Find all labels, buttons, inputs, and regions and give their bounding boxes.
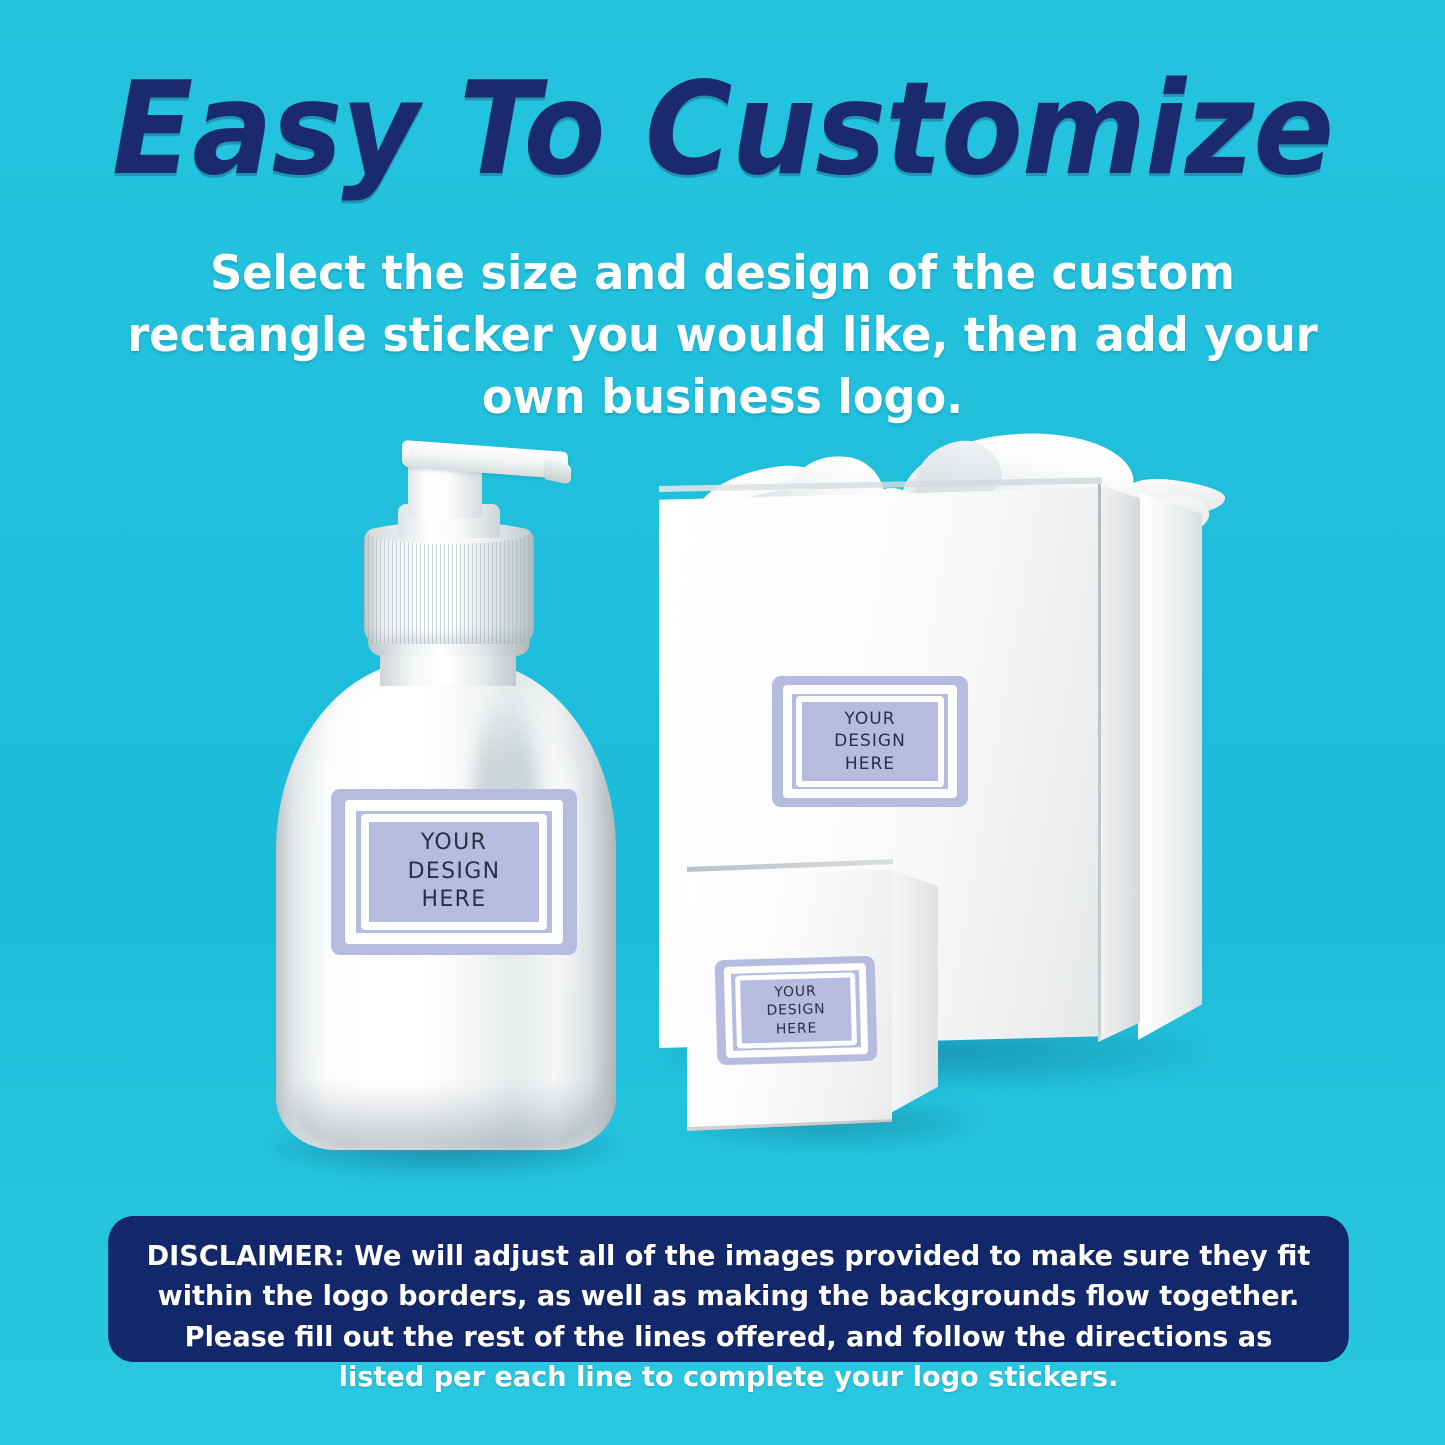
sticker-label-gift-box[interactable]: YOUR DESIGN HERE	[772, 676, 968, 807]
sticker-label-small-box[interactable]: YOUR DESIGN HERE	[715, 956, 878, 1065]
sticker-placeholder-text: YOUR DESIGN HERE	[834, 708, 906, 774]
sticker-label-bottle[interactable]: YOUR DESIGN HERE	[331, 789, 577, 955]
small-box-side-face	[890, 865, 938, 1117]
disclaimer-banner: DISCLAIMER: We will adjust all of the im…	[108, 1216, 1349, 1362]
pump-collar-ribbed	[364, 528, 534, 644]
page-subtitle: Select the size and design of the custom…	[105, 243, 1341, 429]
disclaimer-label: DISCLAIMER:	[147, 1239, 345, 1272]
sticker-placeholder-text: YOUR DESIGN HERE	[408, 829, 501, 915]
gift-box-lid-seam	[1098, 484, 1101, 1040]
gift-box-side-far	[1138, 492, 1202, 1040]
bottle-base-shading	[292, 1080, 600, 1150]
gift-box-side-near	[1098, 484, 1140, 1042]
promo-graphic: Easy To Customize Select the size and de…	[0, 0, 1445, 1445]
page-title: Easy To Customize	[51, 66, 1395, 194]
sticker-placeholder-text: YOUR DESIGN HERE	[766, 982, 827, 1038]
